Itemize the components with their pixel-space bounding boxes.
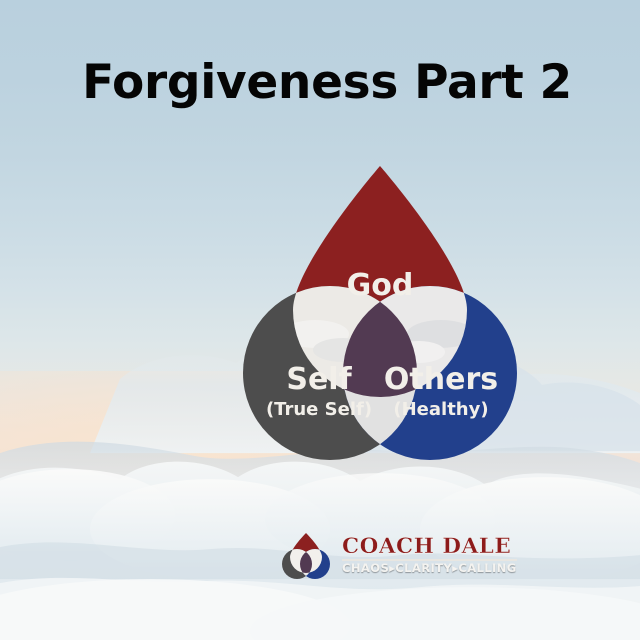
logo-venn-icon [278,530,334,580]
page-title: Forgiveness Part 2 [0,58,640,109]
venn-label-god: God [347,268,414,303]
venn-label-others: Others [384,362,498,397]
logo-text-block: COACH DALE CHAOS▸CLARITY▸CALLING [342,536,517,575]
venn-diagram: God Self (True Self) Others (Healthy) [235,158,525,478]
brand-logo: COACH DALE CHAOS▸CLARITY▸CALLING [278,529,494,581]
slide-canvas: Forgiveness Part 2 [0,0,640,640]
venn-sublabel-self: (True Self) [266,399,372,420]
venn-label-self: Self [286,362,352,397]
logo-brand-name: COACH DALE [342,536,517,558]
logo-tagline: CHAOS▸CLARITY▸CALLING [342,563,517,575]
venn-sublabel-others: (Healthy) [393,399,488,420]
